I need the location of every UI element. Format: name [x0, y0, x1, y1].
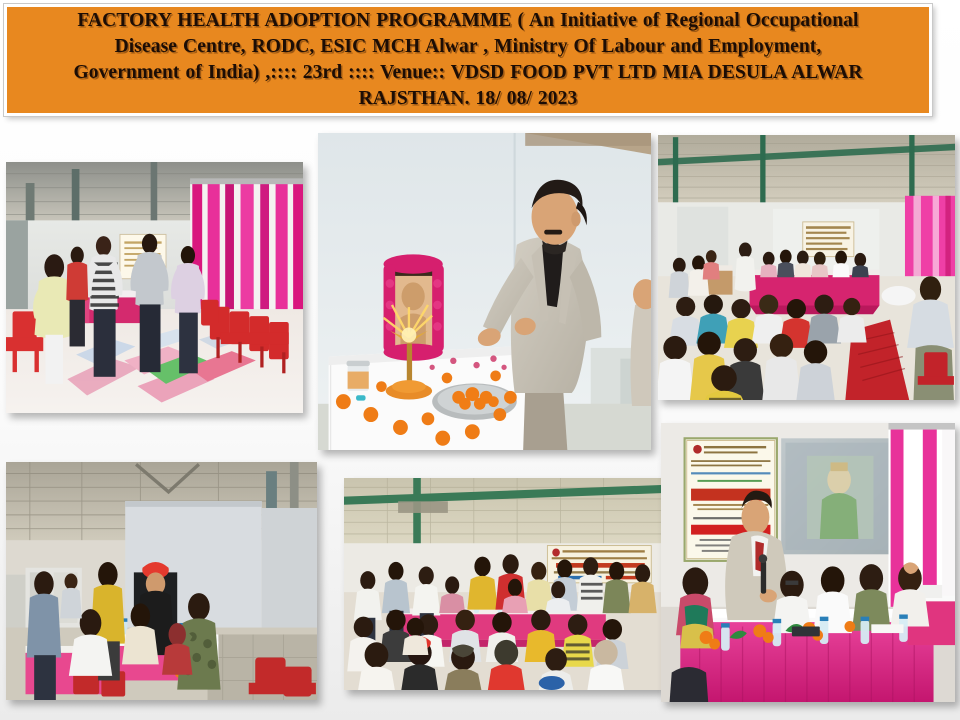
photo-yoga-session [6, 162, 303, 413]
photo-seminar-audience [658, 135, 955, 400]
photo-frame-yoga-session [6, 162, 303, 413]
title-line-4: RAJSTHAN. 18/ 08/ 2023 [359, 88, 578, 109]
title-line-1: FACTORY HEALTH ADOPTION PROGRAMME ( An I… [77, 10, 858, 31]
photo-frame-seminar-audience [658, 135, 955, 400]
title-banner: FACTORY HEALTH ADOPTION PROGRAMME ( An I… [4, 4, 932, 116]
page-title: FACTORY HEALTH ADOPTION PROGRAMME ( An I… [73, 8, 862, 112]
photo-frame-lamp-lighting [318, 133, 651, 450]
photo-lamp-lighting [318, 133, 651, 450]
photo-registration-desk [6, 462, 317, 700]
dais-address-image [661, 423, 955, 702]
photo-dais-address [661, 423, 955, 702]
title-line-3: Government of India) ,:::: 23rd :::: Ven… [73, 62, 862, 83]
photo-frame-dais-address [661, 423, 955, 702]
title-line-2: Disease Centre, RODC, ESIC MCH Alwar , M… [115, 36, 822, 57]
photo-group-photo [344, 478, 661, 690]
yoga-session-image [6, 162, 303, 413]
registration-desk-image [6, 462, 317, 700]
lamp-lighting-image [318, 133, 651, 450]
group-photo-image [344, 478, 661, 690]
photo-frame-group-photo [344, 478, 661, 690]
photo-frame-registration-desk [6, 462, 317, 700]
seminar-audience-image [658, 135, 955, 400]
presentation-slide: FACTORY HEALTH ADOPTION PROGRAMME ( An I… [0, 0, 960, 720]
